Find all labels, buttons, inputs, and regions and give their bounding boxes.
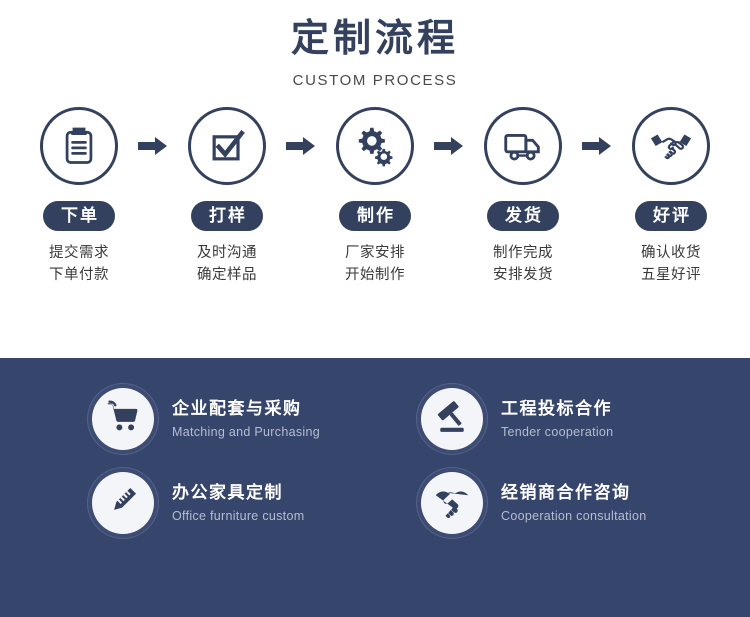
- services-grid: 企业配套与采购 Matching and Purchasing: [0, 388, 750, 534]
- service-1-title-en: Matching and Purchasing: [172, 425, 320, 440]
- process-step-1: 下单 提交需求 下单付款: [23, 107, 135, 287]
- process-step-5: 好评 确认收货 五星好评: [615, 107, 727, 287]
- checkbox-checked-icon: [205, 124, 249, 168]
- step-1-desc-line2: 下单付款: [49, 264, 109, 286]
- process-step-4: 发货 制作完成 安排发货: [467, 107, 579, 287]
- gears-icon: [352, 123, 398, 169]
- handshake-icon: [648, 123, 694, 169]
- shopping-cart-icon: [105, 399, 141, 440]
- service-2-icon-circle: [421, 388, 483, 450]
- gavel-icon: [434, 399, 470, 440]
- arrow-right-icon-4: [579, 107, 615, 185]
- service-3-text: 办公家具定制 Office furniture custom: [172, 482, 304, 524]
- step-5-description: 确认收货 五星好评: [641, 242, 701, 287]
- step-4-desc-line1: 制作完成: [493, 242, 553, 264]
- step-5-desc-line1: 确认收货: [641, 242, 701, 264]
- page-header: 定制流程 CUSTOM PROCESS: [0, 0, 750, 89]
- step-4-desc-line2: 安排发货: [493, 264, 553, 286]
- step-5-icon-circle: [632, 107, 710, 185]
- step-2-desc-line1: 及时沟通: [197, 242, 257, 264]
- step-4-badge: 发货: [487, 201, 559, 231]
- step-3-desc-line2: 开始制作: [345, 264, 405, 286]
- arrow-right-icon-1: [135, 107, 171, 185]
- service-4-title-cn: 经销商合作咨询: [501, 482, 647, 505]
- service-3-icon-circle: [92, 472, 154, 534]
- handshake-solid-icon: [433, 482, 471, 525]
- service-3-title-en: Office furniture custom: [172, 509, 304, 524]
- step-3-desc-line1: 厂家安排: [345, 242, 405, 264]
- step-1-desc-line1: 提交需求: [49, 242, 109, 264]
- service-item-matching-purchasing[interactable]: 企业配套与采购 Matching and Purchasing: [92, 388, 421, 450]
- service-item-office-furniture-custom[interactable]: 办公家具定制 Office furniture custom: [92, 472, 421, 534]
- service-4-icon-circle: [421, 472, 483, 534]
- step-3-icon-circle: [336, 107, 414, 185]
- process-steps: 下单 提交需求 下单付款 打样 及时沟通 确定样品: [0, 107, 750, 287]
- step-4-description: 制作完成 安排发货: [493, 242, 553, 287]
- step-3-badge: 制作: [339, 201, 411, 231]
- process-step-2: 打样 及时沟通 确定样品: [171, 107, 283, 287]
- service-item-cooperation-consultation[interactable]: 经销商合作咨询 Cooperation consultation: [421, 472, 750, 534]
- service-item-tender-cooperation[interactable]: 工程投标合作 Tender cooperation: [421, 388, 750, 450]
- step-2-icon-circle: [188, 107, 266, 185]
- service-1-title-cn: 企业配套与采购: [172, 398, 320, 421]
- services-panel: 企业配套与采购 Matching and Purchasing: [0, 358, 750, 617]
- step-4-icon-circle: [484, 107, 562, 185]
- truck-icon: [500, 123, 546, 169]
- service-3-title-cn: 办公家具定制: [172, 482, 304, 505]
- arrow-right-icon-2: [283, 107, 319, 185]
- service-1-text: 企业配套与采购 Matching and Purchasing: [172, 398, 320, 440]
- page-title: 定制流程: [0, 18, 750, 62]
- step-3-description: 厂家安排 开始制作: [345, 242, 405, 287]
- step-5-badge: 好评: [635, 201, 707, 231]
- arrow-right-icon-3: [431, 107, 467, 185]
- service-4-text: 经销商合作咨询 Cooperation consultation: [501, 482, 647, 524]
- pencil-ruler-icon: [105, 483, 141, 524]
- service-4-title-en: Cooperation consultation: [501, 509, 647, 524]
- step-5-desc-line2: 五星好评: [641, 264, 701, 286]
- service-2-title-cn: 工程投标合作: [501, 398, 613, 421]
- step-1-icon-circle: [40, 107, 118, 185]
- clipboard-icon: [57, 124, 101, 168]
- step-2-badge: 打样: [191, 201, 263, 231]
- page-subtitle: CUSTOM PROCESS: [0, 72, 750, 89]
- service-1-icon-circle: [92, 388, 154, 450]
- step-2-desc-line2: 确定样品: [197, 264, 257, 286]
- step-2-description: 及时沟通 确定样品: [197, 242, 257, 287]
- step-1-description: 提交需求 下单付款: [49, 242, 109, 287]
- service-2-text: 工程投标合作 Tender cooperation: [501, 398, 613, 440]
- step-1-badge: 下单: [43, 201, 115, 231]
- process-step-3: 制作 厂家安排 开始制作: [319, 107, 431, 287]
- service-2-title-en: Tender cooperation: [501, 425, 613, 440]
